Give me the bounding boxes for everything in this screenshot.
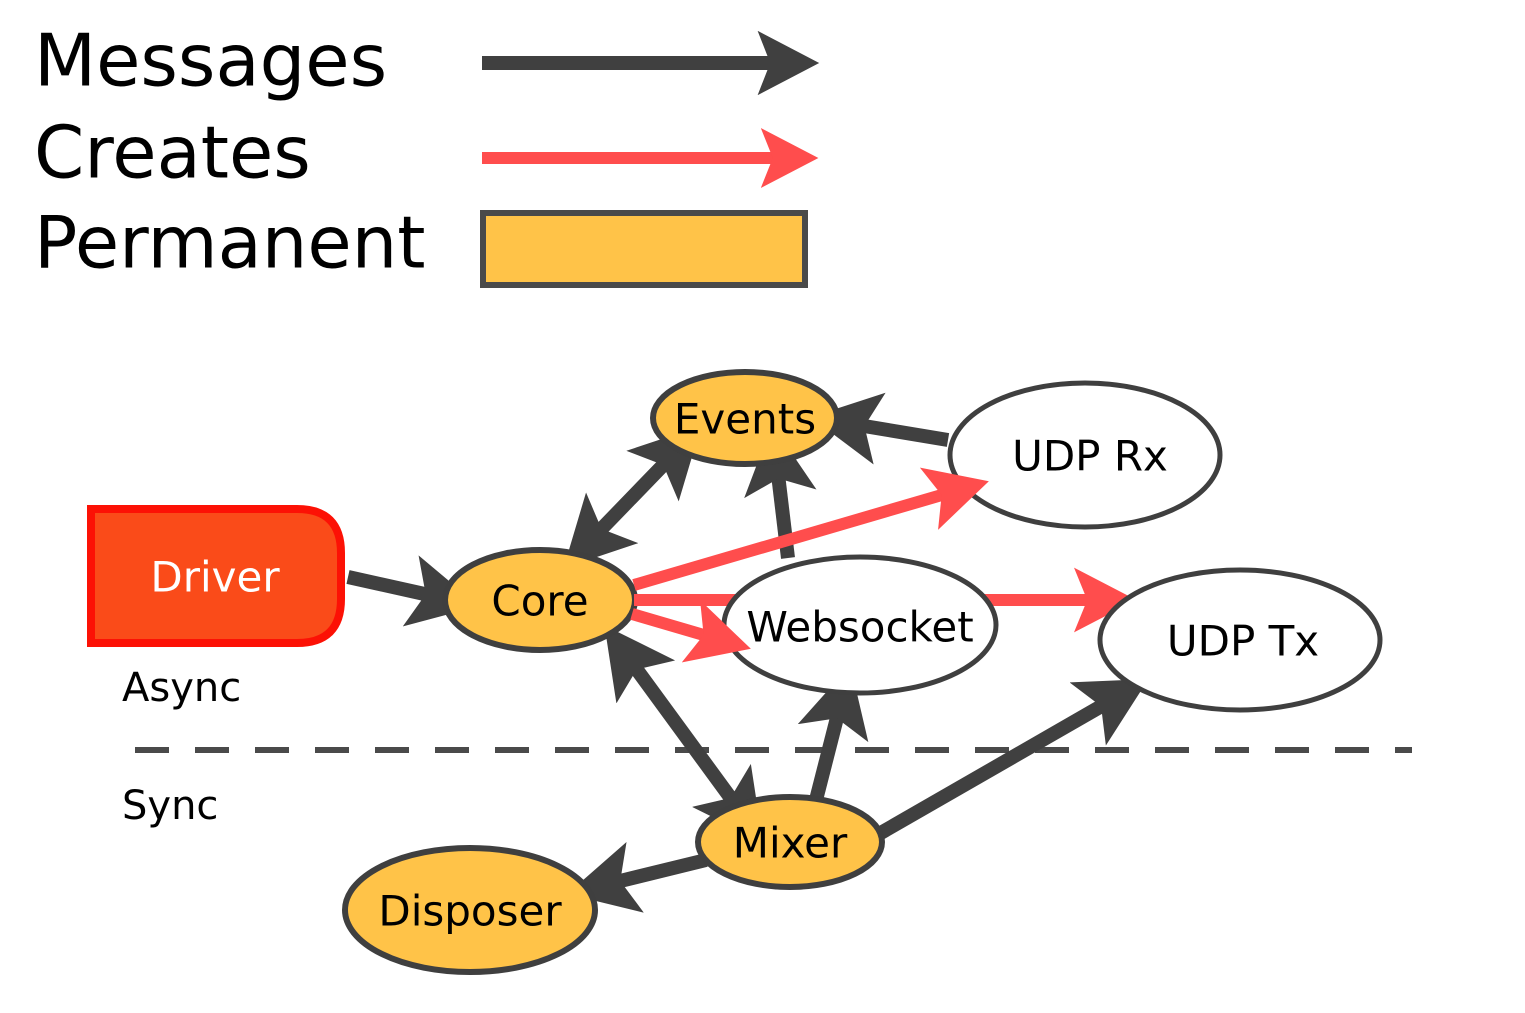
node-core[interactable]: Core bbox=[445, 550, 635, 650]
edge-core-mixer-bidirectional bbox=[621, 648, 738, 808]
legend: Messages Creates Permanent bbox=[34, 19, 805, 285]
node-events[interactable]: Events bbox=[653, 372, 837, 464]
node-driver[interactable]: Driver bbox=[91, 509, 341, 643]
edge-udp-rx-to-events bbox=[852, 424, 948, 440]
node-udp-rx[interactable]: UDP Rx bbox=[950, 383, 1220, 527]
node-core-label: Core bbox=[491, 577, 588, 626]
legend-row-messages: Messages bbox=[34, 19, 780, 103]
node-udp-rx-label: UDP Rx bbox=[1012, 432, 1168, 481]
zone-label-async: Async bbox=[122, 665, 241, 711]
filled-rectangle-icon-permanent bbox=[483, 213, 805, 285]
node-mixer[interactable]: Mixer bbox=[698, 797, 882, 887]
legend-row-permanent: Permanent bbox=[34, 201, 805, 285]
node-disposer-label: Disposer bbox=[378, 887, 562, 936]
edge-driver-to-core bbox=[348, 577, 438, 597]
architecture-diagram: Messages Creates Permanent Async Sync bbox=[0, 0, 1525, 1013]
edge-mixer-to-udp-tx bbox=[872, 700, 1112, 838]
node-websocket[interactable]: Websocket bbox=[724, 557, 996, 693]
legend-row-creates: Creates bbox=[34, 111, 780, 195]
node-driver-label: Driver bbox=[150, 553, 280, 602]
node-mixer-label: Mixer bbox=[733, 819, 848, 868]
node-udp-tx-label: UDP Tx bbox=[1167, 617, 1319, 666]
node-disposer[interactable]: Disposer bbox=[345, 848, 595, 972]
diagram-canvas: Messages Creates Permanent Async Sync bbox=[0, 0, 1525, 1013]
edge-core-to-websocket-creates bbox=[632, 614, 714, 638]
legend-label-creates: Creates bbox=[34, 111, 311, 195]
zone-label-sync: Sync bbox=[122, 783, 218, 829]
nodes: Driver Events UDP Rx Websocket UDP Tx Mi… bbox=[91, 372, 1380, 972]
edge-mixer-to-disposer bbox=[608, 860, 706, 884]
legend-label-permanent: Permanent bbox=[34, 201, 426, 285]
edge-core-events-bidirectional bbox=[583, 456, 672, 548]
legend-label-messages: Messages bbox=[34, 19, 387, 103]
node-events-label: Events bbox=[674, 395, 816, 444]
node-websocket-label: Websocket bbox=[746, 603, 973, 652]
node-udp-tx[interactable]: UDP Tx bbox=[1100, 570, 1380, 710]
